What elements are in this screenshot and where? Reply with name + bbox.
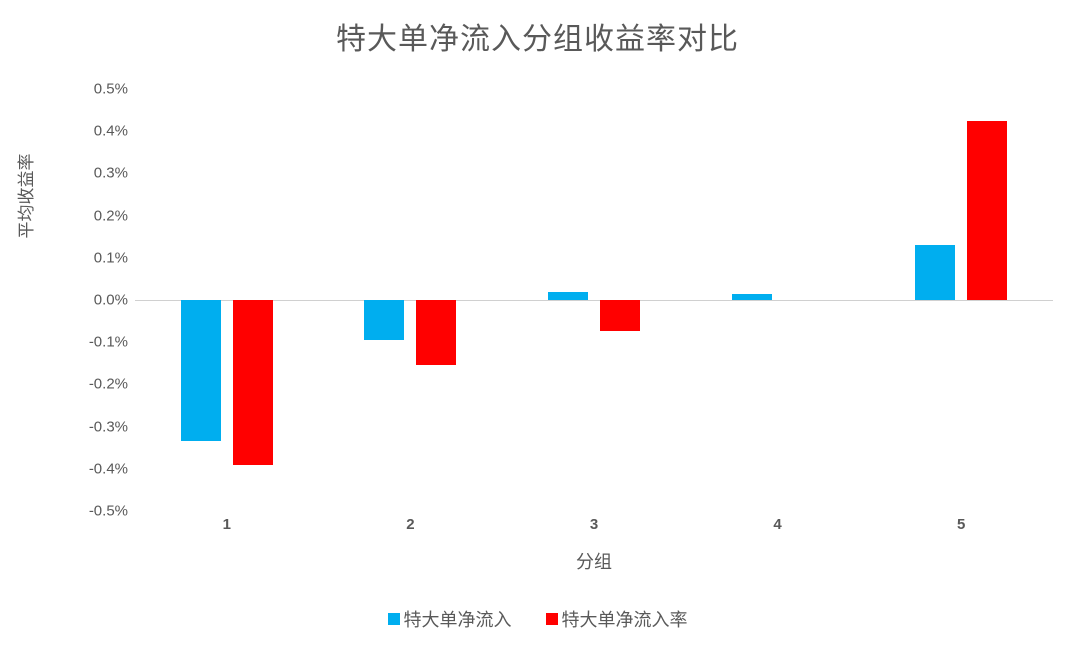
bar-5-series-2 [967,121,1007,300]
y-axis-tick-labels: 0.5%0.4%0.3%0.2%0.1%0.0%-0.1%-0.2%-0.3%-… [60,89,128,511]
legend-item-2[interactable]: 特大单净流入率 [546,606,688,632]
bar-2-series-2 [416,300,456,365]
y-axis-tick-label: -0.3% [66,418,128,435]
bar-2-series-1 [364,300,404,340]
legend-swatch-icon [546,613,558,625]
legend-item-1[interactable]: 特大单净流入 [388,606,512,632]
y-axis-tick-label: -0.1% [66,334,128,351]
bar-5-series-1 [915,245,955,300]
x-axis-title: 分组 [135,548,1053,574]
legend-label: 特大单净流入率 [562,606,688,632]
x-axis-category-label: 3 [534,516,654,533]
bar-4-series-1 [732,294,772,300]
x-axis-category-label: 2 [350,516,470,533]
y-axis-tick-label: 0.0% [66,292,128,309]
plot-area [135,89,1053,511]
y-axis-tick-label: -0.2% [66,376,128,393]
chart-container: 特大单净流入分组收益率对比 平均收益率 0.5%0.4%0.3%0.2%0.1%… [0,0,1075,658]
chart-legend: 特大单净流入特大单净流入率 [0,606,1075,632]
y-axis-title: 平均收益率 [12,96,37,296]
legend-label: 特大单净流入 [404,606,512,632]
y-axis-tick-label: -0.4% [66,460,128,477]
x-axis-category-label: 4 [718,516,838,533]
bar-3-series-2 [600,300,640,331]
y-axis-tick-label: -0.5% [66,503,128,520]
y-axis-tick-label: 0.3% [66,165,128,182]
legend-swatch-icon [388,613,400,625]
y-axis-tick-label: 0.5% [66,81,128,98]
x-axis-category-label: 1 [167,516,287,533]
chart-title: 特大单净流入分组收益率对比 [0,14,1075,58]
x-axis-category-label: 5 [901,516,1021,533]
y-axis-tick-label: 0.2% [66,207,128,224]
bar-3-series-1 [548,292,588,300]
y-axis-tick-label: 0.1% [66,249,128,266]
y-axis-tick-label: 0.4% [66,123,128,140]
bar-1-series-1 [181,300,221,441]
bar-1-series-2 [233,300,273,465]
